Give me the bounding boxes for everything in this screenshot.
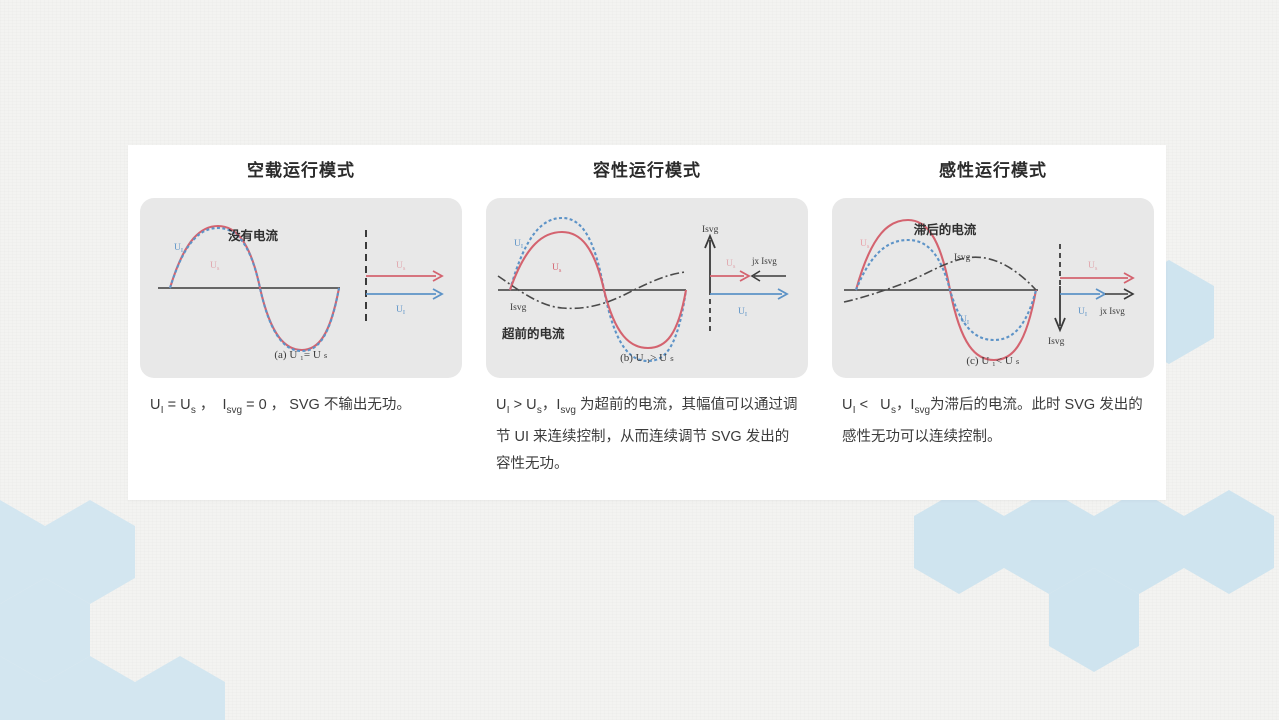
column-title-inductive: 感性运行模式 <box>830 159 1156 183</box>
hexagon-decoration-right <box>899 490 1279 720</box>
inverter-voltage-waveform <box>170 228 339 351</box>
description-inductive: UI < Us，Isvg为滞后的电流。此时 SVG 发出的感性无功可以连续控制。 <box>830 392 1156 451</box>
phasor-label-us: Us <box>726 259 736 270</box>
column-title-no-load: 空载运行模式 <box>138 159 464 183</box>
figure-annotation-lagging-current: 滞后的电流 <box>914 222 977 237</box>
column-inductive: 感性运行模式 Us Isvg UI 滞后的电流 <box>820 145 1166 500</box>
phasor-label-ui: UI <box>396 305 405 316</box>
figure-annotation-no-current: 没有电流 <box>228 228 279 243</box>
slide-canvas: 空载运行模式 UI Us 没有电流 <box>0 0 1279 720</box>
column-capacitive: 容性运行模式 UI Us Isvg 超前的电流 <box>474 145 820 500</box>
column-title-capacitive: 容性运行模式 <box>484 159 810 183</box>
phasor-label-jxisvg: jx Isvg <box>751 256 777 266</box>
figure-caption-c: (c) U ₁< U ₛ <box>966 355 1019 367</box>
wave-label-ui: UI <box>174 243 183 254</box>
phasor-label-isvg: Isvg <box>1048 337 1065 347</box>
phasor-label-ui: UI <box>738 307 747 318</box>
figure-annotation-leading-current: 超前的电流 <box>501 326 565 341</box>
column-no-load: 空载运行模式 UI Us 没有电流 <box>128 145 474 500</box>
phasor-label-jxisvg: jx Isvg <box>1099 306 1125 316</box>
phasor-label-ui: UI <box>1078 307 1087 318</box>
wave-label-ui: UI <box>514 239 523 250</box>
wave-label-us: Us <box>552 263 562 274</box>
description-capacitive: UI > Us，Isvg 为超前的电流，其幅值可以通过调节 UI 来连续控制，从… <box>484 392 810 478</box>
wave-label-isvg: Isvg <box>954 253 971 263</box>
phasor-label-isvg: Isvg <box>702 225 719 235</box>
operation-modes-columns: 空载运行模式 UI Us 没有电流 <box>128 145 1166 500</box>
figure-caption-a: (a) U ₁= U ₛ <box>274 349 327 361</box>
wave-label-us: Us <box>860 239 870 250</box>
phasor-label-us: Us <box>396 261 406 272</box>
figure-caption-b: (b) U ₁> U ₛ <box>620 352 674 364</box>
inductive-operation-figure: Us Isvg UI 滞后的电流 Isvg Us <box>832 198 1154 378</box>
phasor-label-us: Us <box>1088 261 1098 272</box>
content-card: 空载运行模式 UI Us 没有电流 <box>128 145 1166 500</box>
wave-label-ui: UI <box>960 315 969 326</box>
capacitive-operation-figure: UI Us Isvg 超前的电流 Isvg Us <box>486 198 808 378</box>
wave-label-us: Us <box>210 261 220 272</box>
wave-label-isvg: Isvg <box>510 303 527 313</box>
description-no-load: UI = Us ， Isvg = 0 ， SVG 不输出无功。 <box>138 392 464 424</box>
no-load-operation-figure: UI Us 没有电流 Us UI <box>140 198 462 378</box>
